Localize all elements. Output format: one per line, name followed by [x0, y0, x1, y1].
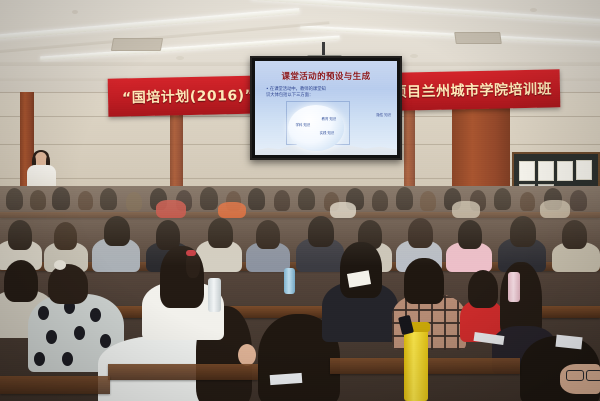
slide-sphere-graphic	[288, 105, 344, 151]
ceiling-vent	[454, 32, 502, 44]
slide-side-label: 隐性 知识	[376, 113, 391, 118]
projector-mount	[322, 42, 325, 56]
slide-bullet: • 在课堂活动中，教师的课堂知识大体包括以下三方面：	[266, 87, 328, 99]
projection-screen: 课堂活动的预设与生成 • 在课堂活动中，教师的课堂知识大体包括以下三方面： 学科…	[250, 56, 402, 160]
paper-sheet	[555, 335, 582, 350]
slide-diagram-label: 教育 知识	[321, 117, 337, 121]
banner-text-left: “国培计划(2016)”一甘肃	[122, 84, 255, 108]
slide-title: 课堂活动的预设与生成	[255, 70, 397, 82]
slide-bullet-text: 在课堂活动中，教师的课堂知识大体包括以下三方面：	[266, 87, 326, 98]
water-bottle-icon	[404, 326, 428, 401]
slide-surface: 课堂活动的预设与生成 • 在课堂活动中，教师的课堂知识大体包括以下三方面： 学科…	[255, 61, 397, 155]
slide-diagram-label: 学科 知识	[295, 123, 311, 127]
water-bottle-icon	[508, 272, 520, 302]
ceiling-vent	[111, 38, 163, 51]
photo-scene: “国培计划(2016)”一甘肃 培训项目兰州城市学院培训班 课堂活动的预设与生成…	[0, 0, 600, 401]
slide-diagram-label: 实践 知识	[319, 131, 335, 135]
water-bottle-icon	[208, 278, 221, 312]
audience-seating	[0, 186, 600, 401]
water-bottle-icon	[284, 268, 295, 294]
